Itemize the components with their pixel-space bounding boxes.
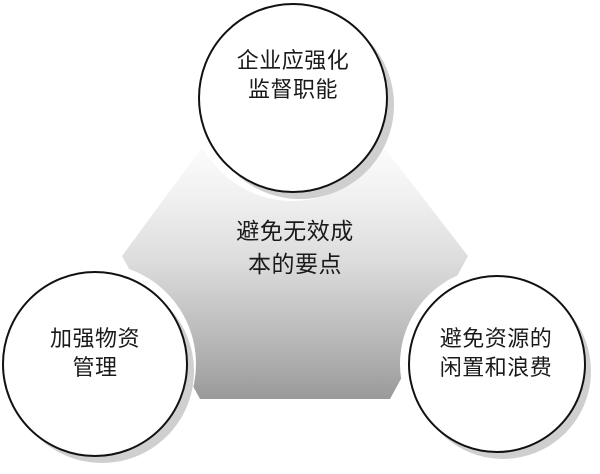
diagram-canvas: 避免无效成 本的要点 企业应强化 监督职能 加强物资 管理 避免资源的 闲置和浪… bbox=[0, 0, 600, 474]
diagram-graphics bbox=[0, 0, 600, 474]
node-top-circle[interactable] bbox=[199, 4, 387, 192]
node-bottom-right-circle[interactable] bbox=[409, 276, 585, 452]
node-bottom-left-circle[interactable] bbox=[3, 272, 187, 456]
